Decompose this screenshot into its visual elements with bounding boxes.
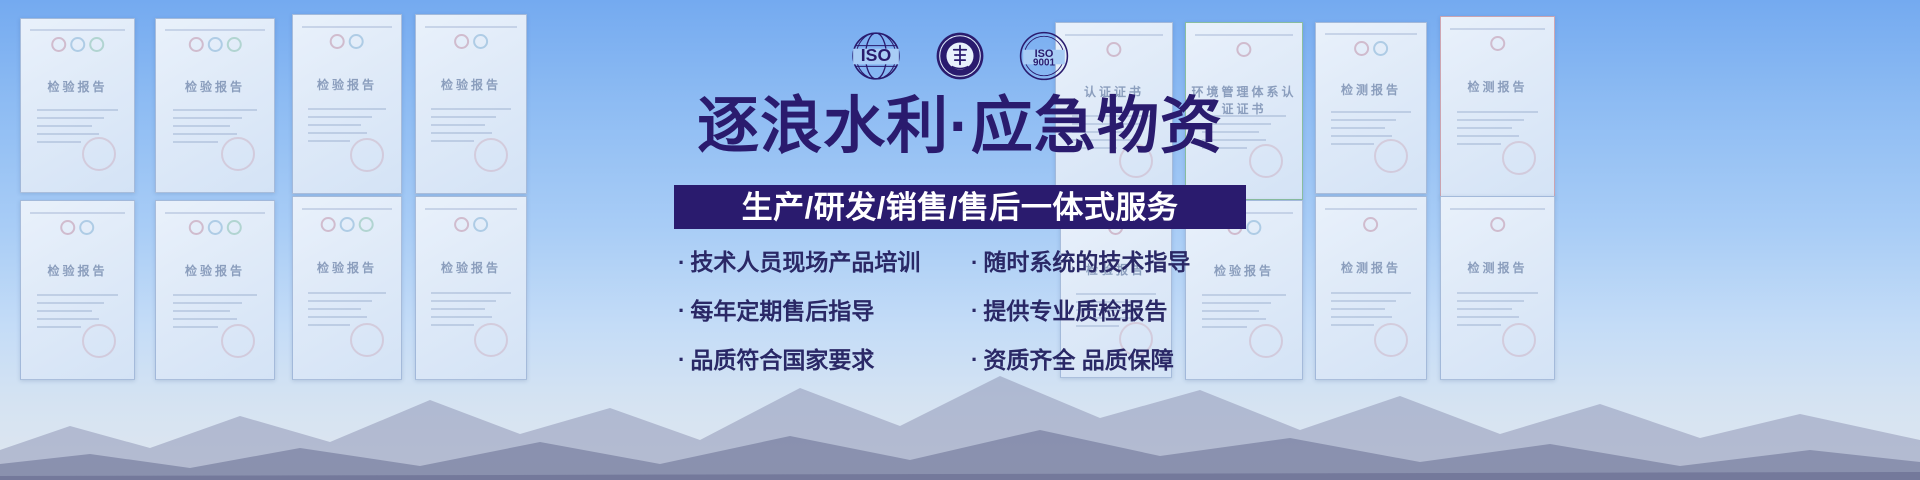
certificate-logo-group [439, 31, 503, 52]
cert-mark-icon [349, 34, 364, 49]
certificate-thumbnail: 检验报告 [292, 196, 402, 380]
feature-item: · 技术人员现场产品培训 [666, 248, 957, 277]
certificate-seal-icon [82, 137, 116, 171]
certificate-seal-icon [221, 324, 255, 358]
certificate-title: 检验报告 [156, 78, 274, 95]
cert-mark-icon [188, 220, 203, 235]
certificate-seal-icon [474, 138, 508, 172]
feature-label: 资质齐全 品质保障 [983, 346, 1173, 375]
certificate-thumbnail: 检验报告 [415, 14, 527, 194]
certificate-title: 检测报告 [1316, 259, 1426, 276]
quality-seal-badge-icon [934, 30, 986, 82]
certificate-logo-group [1339, 38, 1403, 58]
certificate-title: 检测报告 [1316, 81, 1426, 98]
cert-mark-icon [227, 37, 242, 52]
bullet-dot-icon: · [678, 297, 685, 325]
cert-mark-icon [79, 220, 94, 235]
certificate-thumbnail: 检验报告 [155, 200, 275, 380]
certificate-logo-group [45, 217, 111, 238]
certificate-logo-group [1339, 213, 1403, 235]
cert-mark-icon [227, 220, 242, 235]
certificate-logo-group [181, 35, 249, 56]
certification-badges: ISO ISO 9001 [660, 28, 1260, 84]
cert-mark-icon [358, 217, 373, 232]
cert-mark-icon [330, 34, 345, 49]
cert-mark-icon [473, 217, 488, 232]
certificate-seal-icon [1374, 139, 1408, 173]
feature-item: · 提供专业质检报告 [963, 297, 1254, 326]
certificate-seal-icon [474, 323, 508, 357]
feature-item: · 每年定期售后指导 [666, 297, 957, 326]
certificate-thumbnail: 检验报告 [20, 18, 135, 193]
feature-label: 提供专业质检报告 [983, 297, 1167, 326]
certificate-title: 检验报告 [416, 259, 526, 276]
svg-text:9001: 9001 [1033, 57, 1055, 68]
cert-mark-icon [1354, 41, 1369, 56]
cert-mark-icon [51, 37, 66, 52]
certificate-title: 检验报告 [293, 259, 401, 276]
certificate-logo-group [181, 217, 249, 238]
iso-9001-badge-icon: ISO 9001 [1018, 30, 1070, 82]
cert-mark-icon [1363, 217, 1378, 232]
cert-mark-icon [188, 37, 203, 52]
iso-badge-icon: ISO [850, 30, 902, 82]
promotional-banner: 检验报告 检验报告 检验报告 检验报告 认证证书 [0, 0, 1920, 480]
certificate-seal-icon [350, 323, 384, 357]
cert-mark-icon [61, 220, 76, 235]
certificate-title: 检验报告 [416, 76, 526, 93]
certificate-thumbnail: 检验报告 [20, 200, 135, 380]
cert-mark-icon [454, 34, 469, 49]
certificate-logo-group [439, 213, 503, 235]
cert-mark-icon [1373, 41, 1388, 56]
certificate-logo-group [1465, 33, 1531, 55]
feature-label: 随时系统的技术指导 [983, 248, 1190, 277]
certificate-thumbnail: 检测报告 [1440, 16, 1555, 198]
certificate-seal-icon [350, 138, 384, 172]
cert-mark-icon [89, 37, 104, 52]
feature-item: · 资质齐全 品质保障 [963, 346, 1254, 375]
subtitle-text: 生产/研发/销售/售后一体式服务 [742, 192, 1179, 223]
cert-mark-icon [208, 37, 223, 52]
certificate-logo-group [316, 213, 379, 235]
page-title: 逐浪水利·应急物资 [640, 96, 1280, 158]
feature-item: · 品质符合国家要求 [666, 346, 957, 375]
certificate-title: 检验报告 [156, 262, 274, 279]
certificate-title: 检验报告 [293, 76, 401, 93]
certificate-thumbnail: 检测报告 [1315, 22, 1427, 194]
banner-content: ISO ISO 9001 逐浪水利·应急物资 [660, 0, 1260, 480]
certificate-thumbnail: 检验报告 [415, 196, 527, 380]
certificate-thumbnail: 检验报告 [292, 14, 402, 194]
bullet-dot-icon: · [971, 346, 978, 374]
cert-mark-icon [321, 217, 336, 232]
cert-mark-icon [70, 37, 85, 52]
cert-mark-icon [1490, 36, 1505, 51]
certificate-title: 检验报告 [21, 262, 134, 279]
cert-mark-icon [340, 217, 355, 232]
certificate-thumbnail: 检验报告 [155, 18, 275, 193]
certificate-thumbnail: 检测报告 [1440, 196, 1555, 380]
certificate-title: 检测报告 [1441, 259, 1554, 276]
cert-mark-icon [208, 220, 223, 235]
certificate-logo-group [316, 31, 379, 52]
feature-label: 品质符合国家要求 [690, 346, 874, 375]
bullet-dot-icon: · [678, 346, 685, 374]
certificate-thumbnail: 检测报告 [1315, 196, 1427, 380]
certificate-title: 检测报告 [1441, 78, 1554, 95]
cert-mark-icon [454, 217, 469, 232]
subtitle-bar: 生产/研发/销售/售后一体式服务 [674, 185, 1246, 229]
cert-mark-icon [1490, 217, 1505, 232]
cert-mark-icon [473, 34, 488, 49]
certificate-logo-group [1465, 213, 1531, 235]
feature-list: · 技术人员现场产品培训 · 随时系统的技术指导 · 每年定期售后指导 · 提供… [666, 248, 1254, 374]
certificate-seal-icon [221, 137, 255, 171]
feature-label: 每年定期售后指导 [690, 297, 874, 326]
certificate-seal-icon [1374, 323, 1408, 357]
svg-text:ISO: ISO [861, 45, 891, 65]
bullet-dot-icon: · [971, 297, 978, 325]
certificate-logo-group [45, 35, 111, 56]
bullet-dot-icon: · [971, 249, 978, 277]
bullet-dot-icon: · [678, 249, 685, 277]
certificate-seal-icon [82, 324, 116, 358]
certificate-seal-icon [1502, 141, 1536, 175]
feature-label: 技术人员现场产品培训 [690, 248, 920, 277]
feature-item: · 随时系统的技术指导 [963, 248, 1254, 277]
certificate-seal-icon [1502, 323, 1536, 357]
certificate-title: 检验报告 [21, 78, 134, 95]
